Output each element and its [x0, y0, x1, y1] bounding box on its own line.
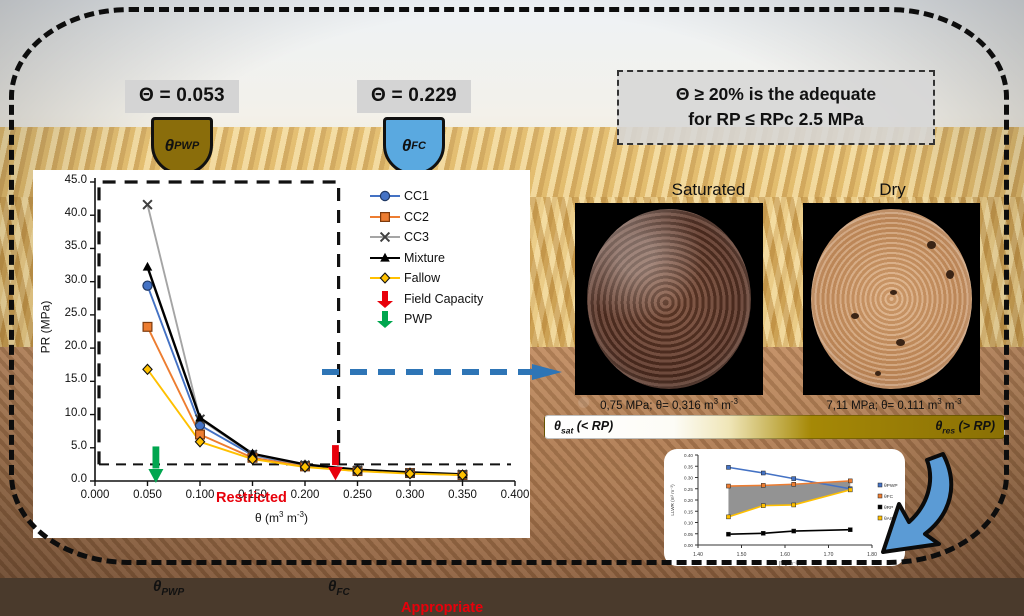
svg-text:0.15: 0.15 — [684, 509, 693, 514]
callout-pwp: Θ = 0.053 θPWP — [125, 80, 239, 175]
svg-text:0.00: 0.00 — [684, 543, 693, 548]
legend-item-cc2[interactable]: CC2 — [368, 207, 483, 228]
svg-text:0.30: 0.30 — [684, 476, 693, 481]
chart-y-tick: 0.0 — [47, 473, 87, 485]
chart-appropriate-label: Appropriate — [401, 600, 483, 616]
curved-arrow-icon — [855, 448, 975, 563]
legend-item-label: CC3 — [404, 230, 429, 244]
caption-sat-text: 0,75 MPa; θ= 0,316 m — [600, 400, 713, 412]
svg-text:1.40: 1.40 — [693, 552, 703, 558]
chart-x-tick: 0.400 — [485, 489, 545, 501]
legend-item-cc3[interactable]: CC3 — [368, 227, 483, 248]
svg-text:0.25: 0.25 — [684, 487, 693, 492]
pore-icon — [890, 290, 897, 295]
pwp-badge-subscript: PWP — [174, 140, 199, 152]
chart-x-tick: 0.350 — [433, 489, 493, 501]
svg-text:0.10: 0.10 — [684, 521, 693, 526]
svg-text:1.60: 1.60 — [780, 552, 790, 558]
photo-caption-saturated: 0,75 MPa; θ= 0,316 m3 m-3 — [575, 397, 763, 412]
gradient-label-residual: θres (> RP) — [935, 419, 995, 436]
fc-value-label: Θ = 0.229 — [357, 80, 471, 113]
soil-photo-saturated — [575, 203, 763, 395]
legend-symbol-cc3 — [368, 227, 402, 247]
legend-item-label: Mixture — [404, 251, 445, 265]
chart-y-tick: 20.0 — [47, 340, 87, 352]
photo-title-saturated: Saturated — [616, 180, 801, 200]
pore-icon — [946, 270, 954, 279]
chart-x-tick: 0.300 — [380, 489, 440, 501]
pwp-shield-badge: θPWP — [151, 117, 213, 175]
water-content-gradient-bar: θsat (< RP) θres (> RP) — [544, 415, 1005, 439]
legend-item-cc1[interactable]: CC1 — [368, 186, 483, 207]
legend-item-label: Field Capacity — [404, 292, 483, 306]
chart-x-tick: 0.250 — [328, 489, 388, 501]
chart-y-tick: 15.0 — [47, 373, 87, 385]
svg-text:0.05: 0.05 — [684, 532, 693, 537]
svg-text:LLWR (m³ m⁻³): LLWR (m³ m⁻³) — [670, 484, 675, 516]
legend-symbol-mixture — [368, 248, 402, 268]
legend-item-label: PWP — [404, 312, 432, 326]
pore-icon — [896, 339, 905, 346]
chart-y-tick: 25.0 — [47, 307, 87, 319]
gradient-label-saturated: θsat (< RP) — [554, 419, 613, 436]
fc-badge-subscript: FC — [411, 140, 426, 152]
connector-arrow-icon — [322, 364, 562, 380]
legend-symbol-field-capacity — [368, 289, 402, 309]
legend-symbol-pwp — [368, 309, 402, 329]
legend-item-label: Fallow — [404, 271, 440, 285]
chart-legend: CC1CC2CC3MixtureFallowField CapacityPWP — [368, 186, 483, 330]
legend-symbol-fallow — [368, 268, 402, 288]
legend-symbol-cc1 — [368, 186, 402, 206]
chart-y-tick: 40.0 — [47, 207, 87, 219]
chart-y-tick: 30.0 — [47, 274, 87, 286]
svg-text:0.20: 0.20 — [684, 498, 693, 503]
chart-y-tick: 10.0 — [47, 407, 87, 419]
legend-item-field-capacity[interactable]: Field Capacity — [368, 289, 483, 310]
legend-item-label: CC1 — [404, 189, 429, 203]
svg-text:0.40: 0.40 — [684, 453, 693, 458]
pwp-badge-symbol: θ — [165, 136, 174, 156]
fc-shield-badge: θFC — [383, 117, 445, 175]
pwp-value-label: Θ = 0.053 — [125, 80, 239, 113]
legend-item-mixture[interactable]: Mixture — [368, 248, 483, 269]
chart-restricted-label: Restricted — [216, 490, 287, 506]
svg-text:1.70: 1.70 — [824, 552, 834, 558]
chart-x-tick: 0.050 — [118, 489, 178, 501]
fc-badge-symbol: θ — [402, 136, 411, 156]
photo-caption-dry: 7,11 MPa; θ= 0.111 m3 m-3 — [800, 397, 988, 412]
chart-y-tick: 5.0 — [47, 440, 87, 452]
chart-y-tick: 35.0 — [47, 240, 87, 252]
callout-fc: Θ = 0.229 θFC — [357, 80, 471, 175]
svg-text:0.35: 0.35 — [684, 464, 693, 469]
soil-disc-saturated — [587, 209, 751, 389]
legend-item-fallow[interactable]: Fallow — [368, 268, 483, 289]
chart-x-axis-label: θ (m3 m-3) — [33, 510, 530, 525]
chart-x-tick: 0.000 — [65, 489, 125, 501]
caption-dry-text: 7,11 MPa; θ= 0.111 m — [826, 400, 937, 412]
photo-title-dry: Dry — [800, 180, 985, 200]
svg-text:1.50: 1.50 — [737, 552, 747, 558]
legend-symbol-cc2 — [368, 207, 402, 227]
svg-text:Bd (Mg m⁻³): Bd (Mg m⁻³) — [771, 561, 799, 566]
legend-item-pwp[interactable]: PWP — [368, 309, 483, 330]
chart-theta-pwp-label: θPWP — [153, 578, 184, 598]
soil-photo-dry — [803, 203, 980, 395]
pore-icon — [851, 313, 859, 319]
chart-theta-fc-label: θFC — [328, 578, 350, 598]
legend-item-label: CC2 — [404, 210, 429, 224]
soil-disc-dry — [811, 209, 972, 389]
pore-icon — [875, 371, 881, 376]
chart-y-tick: 45.0 — [47, 174, 87, 186]
adequacy-info-box: Θ ≥ 20% is the adequate for RP ≤ RPc 2.5… — [617, 70, 935, 145]
info-line-2: for RP ≤ RPc 2.5 MPa — [627, 107, 925, 132]
pore-icon — [927, 241, 936, 249]
info-line-1: Θ ≥ 20% is the adequate — [627, 82, 925, 107]
